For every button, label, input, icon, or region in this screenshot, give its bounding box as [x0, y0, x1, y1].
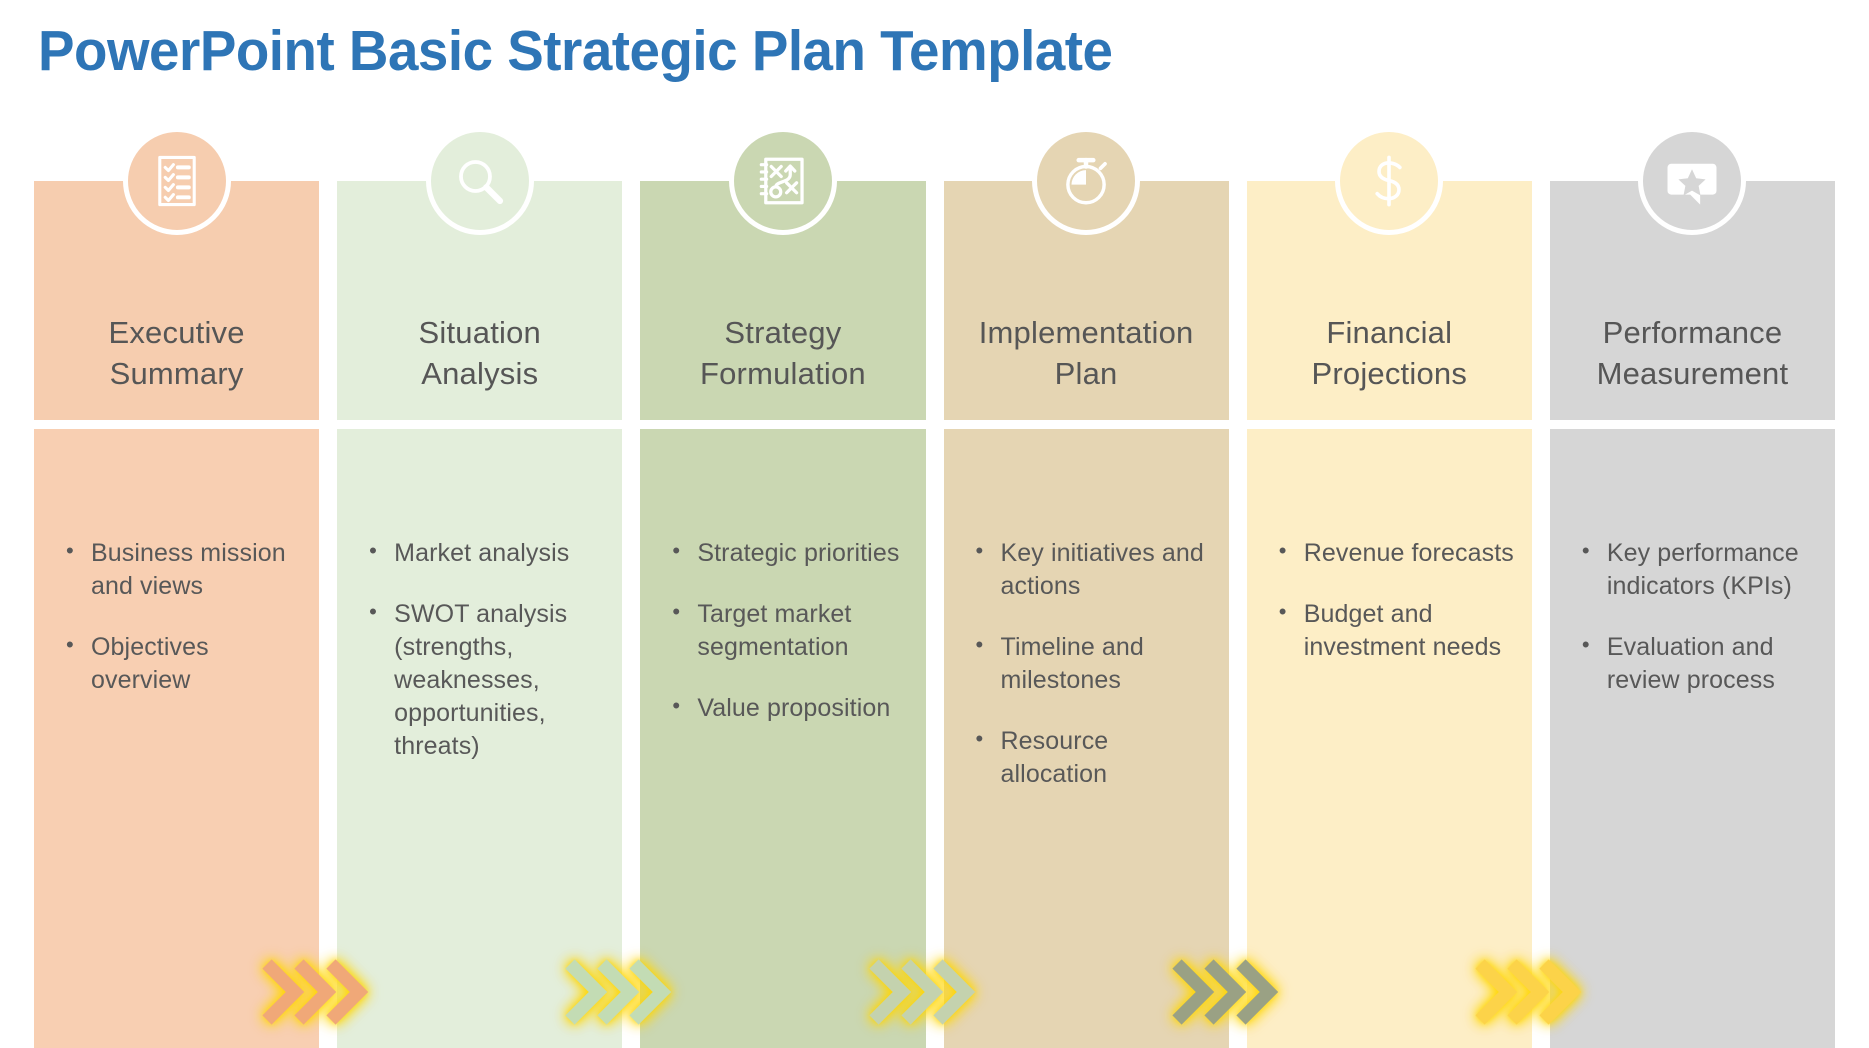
list-item: Market analysis [361, 537, 604, 570]
column-situation-analysis[interactable]: SituationAnalysisMarket analysisSWOT ana… [337, 181, 622, 1048]
column-header-executive-summary: ExecutiveSummary [34, 181, 319, 420]
chevron-arrow-executive-summary [257, 950, 375, 1034]
column-divider [1550, 420, 1835, 429]
chevron-arrow-strategy-formulation [864, 950, 982, 1034]
list-item: SWOT analysis (strengths, weaknesses, op… [361, 598, 604, 763]
star-comment-icon [1638, 127, 1746, 235]
chevron-arrow-implementation-plan [1167, 950, 1285, 1034]
stopwatch-icon [1032, 127, 1140, 235]
bullet-list: Strategic prioritiesTarget market segmen… [664, 537, 907, 725]
column-divider [34, 420, 319, 429]
page-title: PowerPoint Basic Strategic Plan Template [38, 18, 1113, 84]
list-item: Key performance indicators (KPIs) [1574, 537, 1817, 603]
column-heading-financial-projections: FinancialProjections [1303, 313, 1475, 394]
column-performance-measurement[interactable]: PerformanceMeasurementKey performance in… [1550, 181, 1835, 1048]
column-header-implementation-plan: ImplementationPlan [944, 181, 1229, 420]
list-item: Strategic priorities [664, 537, 907, 570]
list-item: Resource allocation [968, 725, 1211, 791]
column-heading-performance-measurement: PerformanceMeasurement [1589, 313, 1797, 394]
column-header-performance-measurement: PerformanceMeasurement [1550, 181, 1835, 420]
list-item: Value proposition [664, 692, 907, 725]
column-header-financial-projections: FinancialProjections [1247, 181, 1532, 420]
column-body-performance-measurement: Key performance indicators (KPIs)Evaluat… [1550, 429, 1835, 1048]
list-item: Budget and investment needs [1271, 598, 1514, 664]
chevron-arrow-situation-analysis [560, 950, 678, 1034]
column-header-strategy-formulation: StrategyFormulation [640, 181, 925, 420]
column-header-situation-analysis: SituationAnalysis [337, 181, 622, 420]
list-item: Objectives overview [58, 631, 301, 697]
column-heading-implementation-plan: ImplementationPlan [971, 313, 1202, 394]
list-item: Target market segmentation [664, 598, 907, 664]
playbook-icon [729, 127, 837, 235]
column-strategy-formulation[interactable]: StrategyFormulationStrategic prioritiesT… [640, 181, 925, 1048]
list-item: Business mission and views [58, 537, 301, 603]
column-heading-situation-analysis: SituationAnalysis [411, 313, 549, 394]
column-divider [1247, 420, 1532, 429]
column-financial-projections[interactable]: FinancialProjectionsRevenue forecastsBud… [1247, 181, 1532, 1048]
checklist-icon [123, 127, 231, 235]
magnifier-icon [426, 127, 534, 235]
chevron-arrow-financial-projections [1470, 950, 1588, 1034]
column-divider [640, 420, 925, 429]
slide-canvas: PowerPoint Basic Strategic Plan Template… [0, 0, 1869, 1048]
column-executive-summary[interactable]: ExecutiveSummaryBusiness mission and vie… [34, 181, 319, 1048]
column-divider [944, 420, 1229, 429]
list-item: Timeline and milestones [968, 631, 1211, 697]
list-item: Key initiatives and actions [968, 537, 1211, 603]
column-implementation-plan[interactable]: ImplementationPlanKey initiatives and ac… [944, 181, 1229, 1048]
bullet-list: Key initiatives and actionsTimeline and … [968, 537, 1211, 791]
bullet-list: Key performance indicators (KPIs)Evaluat… [1574, 537, 1817, 697]
list-item: Evaluation and review process [1574, 631, 1817, 697]
bullet-list: Revenue forecastsBudget and investment n… [1271, 537, 1514, 664]
column-heading-strategy-formulation: StrategyFormulation [692, 313, 874, 394]
dollar-icon [1335, 127, 1443, 235]
columns-container: ExecutiveSummaryBusiness mission and vie… [34, 181, 1835, 1048]
column-heading-executive-summary: ExecutiveSummary [100, 313, 252, 394]
bullet-list: Business mission and viewsObjectives ove… [58, 537, 301, 697]
list-item: Revenue forecasts [1271, 537, 1514, 570]
column-divider [337, 420, 622, 429]
bullet-list: Market analysisSWOT analysis (strengths,… [361, 537, 604, 763]
